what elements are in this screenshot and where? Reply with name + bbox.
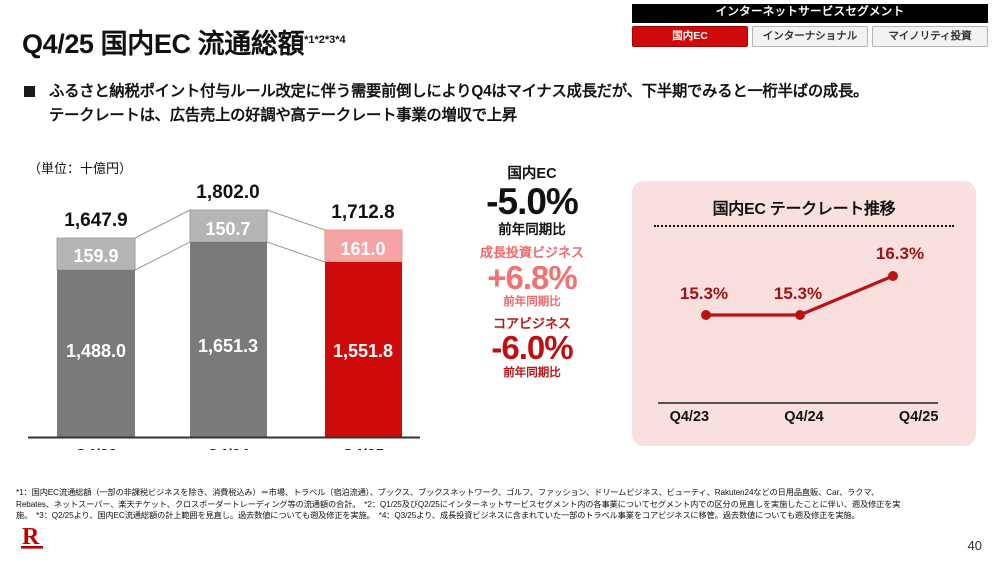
- segment-selector: インターネットサービスセグメント 国内EC インターナショナル マイノリティ投資: [632, 4, 988, 47]
- take-rate-label-q23: 15.3%: [680, 284, 728, 303]
- stats-column: 国内EC -5.0% 前年同期比 成長投資ビジネス +6.8% 前年同期比 コア…: [438, 166, 626, 386]
- bar-core-label-q24: 1,651.3: [198, 336, 258, 356]
- footnote-line-2: Rebates、ネットスーパー、楽天チケット、クロスボーダートレーディング等の流…: [16, 499, 984, 511]
- stat-growth-investment-value: +6.8%: [438, 261, 626, 296]
- slide-root: インターネットサービスセグメント 国内EC インターナショナル マイノリティ投資…: [0, 0, 1000, 565]
- connector-q23-q24: [135, 210, 190, 270]
- segment-tab-domestic-ec[interactable]: 国内EC: [632, 26, 748, 48]
- page-title-text: Q4/25 国内EC 流通総額: [22, 29, 304, 59]
- take-rate-axis-label-row: Q4/23 Q4/24 Q4/25: [632, 409, 976, 425]
- rakuten-r-logo-icon: R: [18, 521, 52, 555]
- stat-core-business-sub: 前年同期比: [438, 366, 626, 380]
- take-rate-line-chart-svg: 15.3% 15.3% 16.3%: [632, 181, 976, 446]
- stat-growth-investment-sub: 前年同期比: [438, 295, 626, 309]
- stat-core-business-value: -6.0%: [438, 331, 626, 366]
- gms-stacked-bar-chart: 1,647.9 1,802.0 1,712.8 159.9 150.7 161.…: [0, 150, 440, 450]
- page-title: Q4/25 国内EC 流通総額*1*2*3*4: [22, 22, 346, 61]
- segment-tab-list: 国内EC インターナショナル マイノリティ投資: [632, 26, 988, 48]
- bullet-block: ふるさと納税ポイント付与ルール改定に伴う需要前倒しによりQ4はマイナス成長だが、…: [24, 80, 979, 127]
- bar-core-label-q25: 1,551.8: [333, 341, 393, 361]
- take-rate-point-q24: [795, 310, 805, 320]
- segment-tab-minority-investment[interactable]: マイノリティ投資: [872, 26, 988, 48]
- take-rate-axis-label-q24: Q4/24: [747, 409, 862, 425]
- bar-total-label-q23: 1,647.9: [64, 210, 127, 231]
- footnote-line-3: 施。 *3：Q2/25より、国内EC流通総額の計上範囲を見直し。過去数値について…: [16, 510, 984, 522]
- stat-domestic-ec-value: -5.0%: [438, 183, 626, 222]
- bar-category-label-q24: Q4/24: [207, 447, 250, 450]
- bullet-text: ふるさと納税ポイント付与ルール改定に伴う需要前倒しによりQ4はマイナス成長だが、…: [49, 80, 868, 127]
- bullet-line-2: テークレートは、広告売上の好調や高テークレート事業の増収で上昇: [49, 104, 868, 128]
- stat-growth-investment: 成長投資ビジネス +6.8% 前年同期比: [438, 245, 626, 310]
- segment-tab-international[interactable]: インターナショナル: [752, 26, 868, 48]
- take-rate-label-q24: 15.3%: [774, 284, 822, 303]
- take-rate-axis-label-q25: Q4/25: [861, 409, 976, 425]
- bar-core-label-q23: 1,488.0: [66, 341, 126, 361]
- bar-growth-label-q23: 159.9: [73, 246, 118, 266]
- bar-category-label-q25: Q4/25: [342, 447, 385, 450]
- segment-header: インターネットサービスセグメント: [632, 4, 988, 23]
- take-rate-point-q25: [888, 271, 898, 281]
- bar-total-label-q24: 1,802.0: [196, 182, 259, 203]
- bullet-line-1: ふるさと納税ポイント付与ルール改定に伴う需要前倒しによりQ4はマイナス成長だが、…: [49, 80, 868, 104]
- stat-core-business: コアビジネス -6.0% 前年同期比: [438, 316, 626, 381]
- take-rate-label-q25: 16.3%: [876, 244, 924, 263]
- bar-growth-label-q24: 150.7: [205, 219, 250, 239]
- footnote-line-1: *1：国内EC流通総額（一部の非課税ビジネスを除き、消費税込み）＝市場、トラベル…: [16, 487, 984, 499]
- take-rate-panel: 国内EC テークレート推移 15.3% 15.3% 16.3% Q4/23 Q4…: [632, 181, 976, 446]
- bar-growth-label-q25: 161.0: [340, 239, 385, 259]
- page-title-footnote-marks: *1*2*3*4: [304, 34, 346, 46]
- bar-category-label-q23: Q4/23: [75, 447, 118, 450]
- stat-domestic-ec: 国内EC -5.0% 前年同期比: [438, 166, 626, 239]
- bullet-square-icon: [24, 86, 35, 97]
- take-rate-point-q23: [701, 310, 711, 320]
- stat-domestic-ec-sub: 前年同期比: [438, 222, 626, 239]
- page-number: 40: [968, 538, 982, 553]
- bar-total-label-q25: 1,712.8: [331, 202, 394, 223]
- connector-q24-q25: [267, 210, 325, 262]
- take-rate-axis-label-q23: Q4/23: [632, 409, 747, 425]
- bar-chart-svg: 1,647.9 1,802.0 1,712.8 159.9 150.7 161.…: [0, 150, 440, 450]
- footnotes: *1：国内EC流通総額（一部の非課税ビジネスを除き、消費税込み）＝市場、トラベル…: [16, 487, 984, 522]
